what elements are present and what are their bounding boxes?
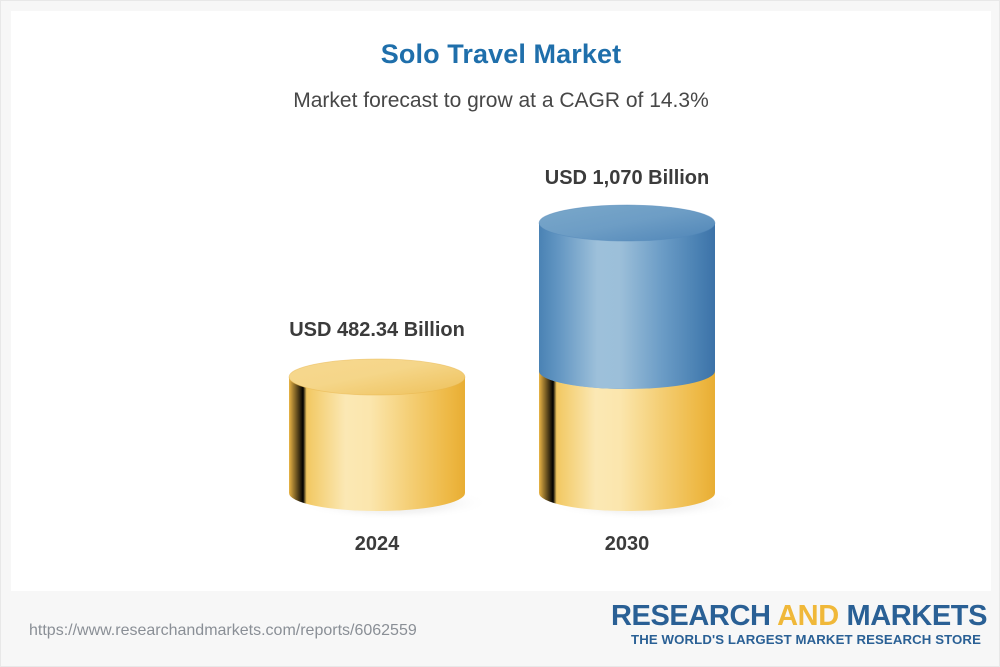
value-label-2030: USD 1,070 Billion (427, 167, 827, 190)
logo-wordmark: RESEARCH AND MARKETS (611, 601, 981, 632)
bar-2030 (539, 205, 739, 520)
researchandmarkets-logo: RESEARCH AND MARKETS THE WORLD'S LARGEST… (611, 601, 981, 648)
report-url[interactable]: https://www.researchandmarkets.com/repor… (29, 622, 417, 640)
category-label-2030: 2030 (427, 533, 827, 556)
bar-2024 (289, 359, 489, 520)
logo-word-research: RESEARCH (611, 600, 771, 632)
chart-image: Solo Travel Market Market forecast to gr… (0, 0, 1000, 667)
logo-word-markets: MARKETS (846, 600, 987, 632)
logo-word-and: AND (777, 600, 839, 632)
logo-tagline: THE WORLD'S LARGEST MARKET RESEARCH STOR… (611, 632, 981, 649)
value-label-2024: USD 482.34 Billion (177, 319, 577, 342)
chart-plot-area: USD 482.34 Billion USD 1,070 Billion 202… (1, 1, 1000, 601)
cylinder-bars (1, 1, 1000, 601)
